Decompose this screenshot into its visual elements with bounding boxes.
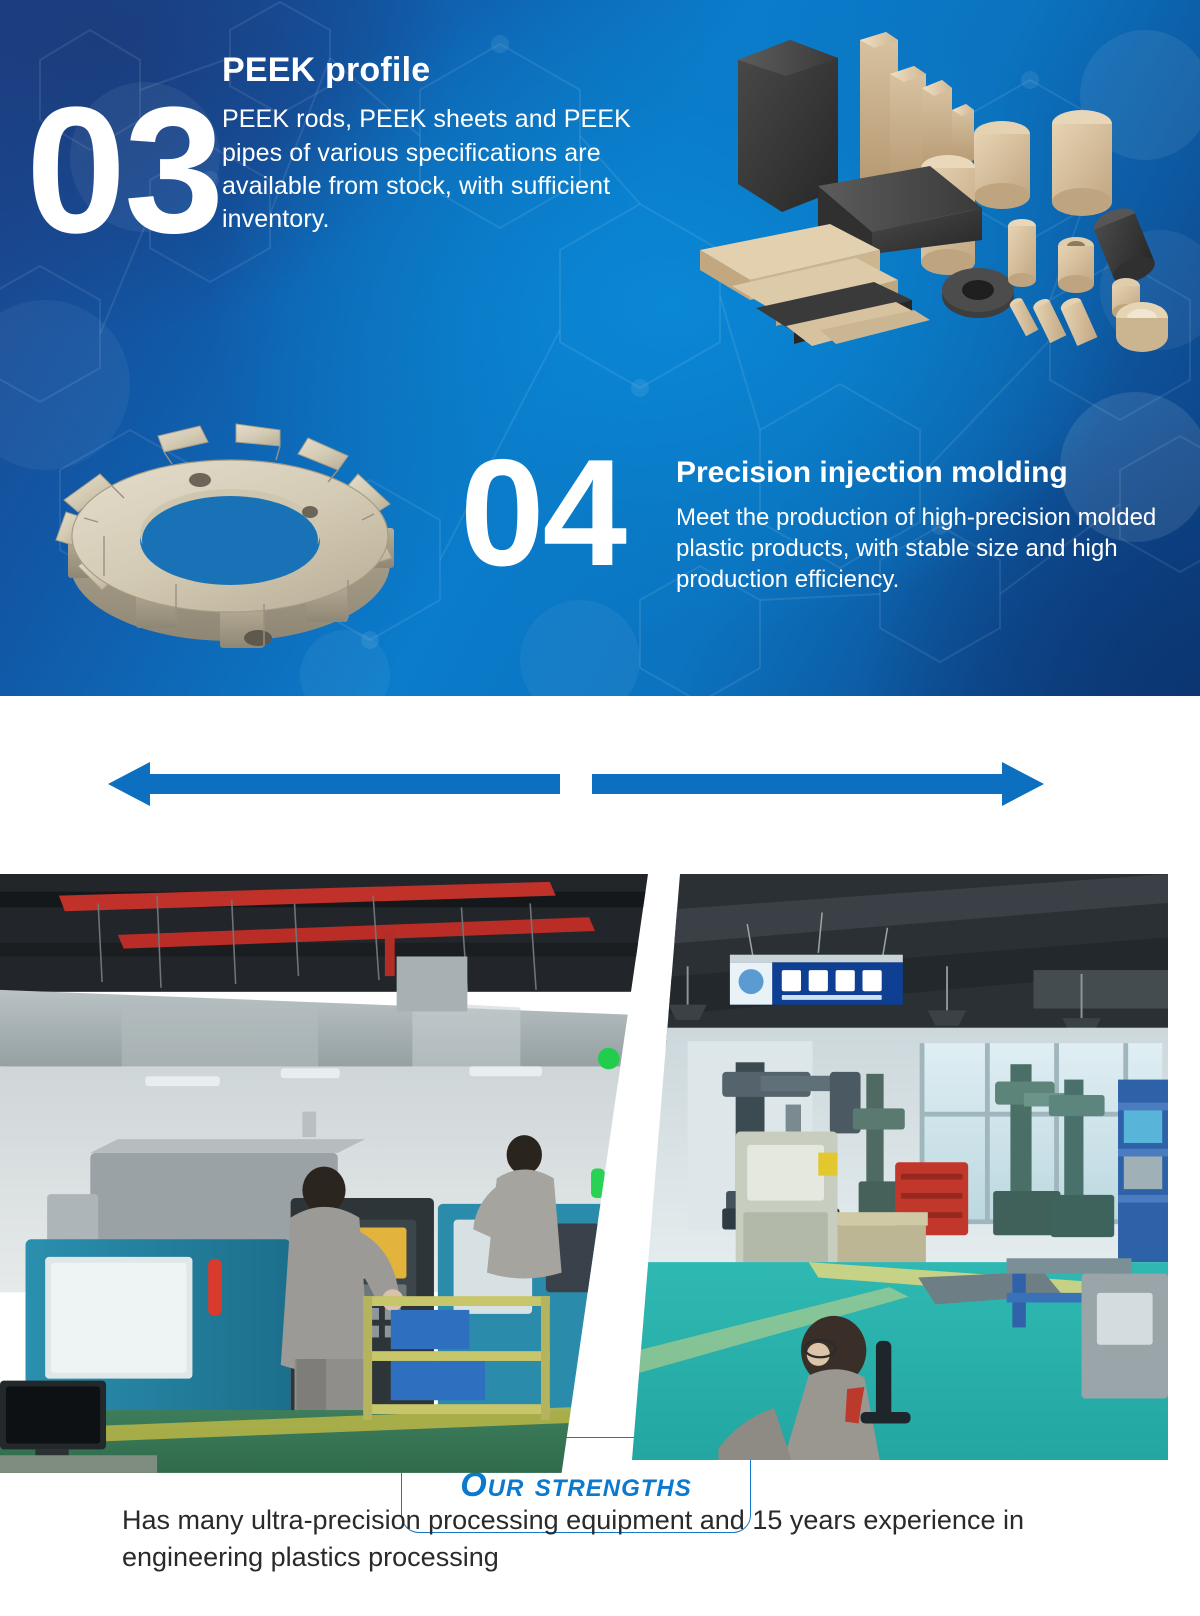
small-peek-rods-tubes (1008, 203, 1168, 352)
feature-block-04: 04 Precision injection molding Meet the … (440, 432, 1200, 662)
mold-workshop-photo (630, 874, 1168, 1484)
feature-title-04: Precision injection molding (676, 456, 1176, 490)
grey-machine (1082, 1274, 1168, 1399)
cnc-machining-workshop-photo (0, 874, 648, 1484)
black-peek-ring (942, 268, 1014, 318)
feature-title-03: PEEK profile (222, 52, 662, 89)
arrow-left-icon (108, 762, 560, 806)
double-arrow-divider (0, 696, 1200, 872)
storage-shelving (1118, 1080, 1168, 1263)
factory-photo-strip (0, 874, 1168, 1484)
monitor (0, 1381, 106, 1462)
feature-number-04: 04 (460, 444, 625, 584)
feature-body-04: Meet the production of high-precision mo… (676, 502, 1176, 596)
peek-stock-shapes-photo (690, 18, 1190, 358)
peek-gear-ring-photo (40, 408, 420, 673)
feature-body-03: PEEK rods, PEEK sheets and PEEK pipes of… (222, 103, 662, 236)
hero-section: 03 PEEK profile PEEK rods, PEEK sheets a… (0, 0, 1200, 696)
arrow-right-icon (592, 762, 1044, 806)
strengths-banner: Our strengths (0, 696, 1200, 872)
feature-block-03: 03 PEEK profile PEEK rods, PEEK sheets a… (0, 52, 690, 352)
gear-ring-top-face (72, 460, 388, 612)
feature-number-03: 03 (26, 88, 222, 254)
strip-caption: Has many ultra-precision processing equi… (122, 1502, 1102, 1577)
